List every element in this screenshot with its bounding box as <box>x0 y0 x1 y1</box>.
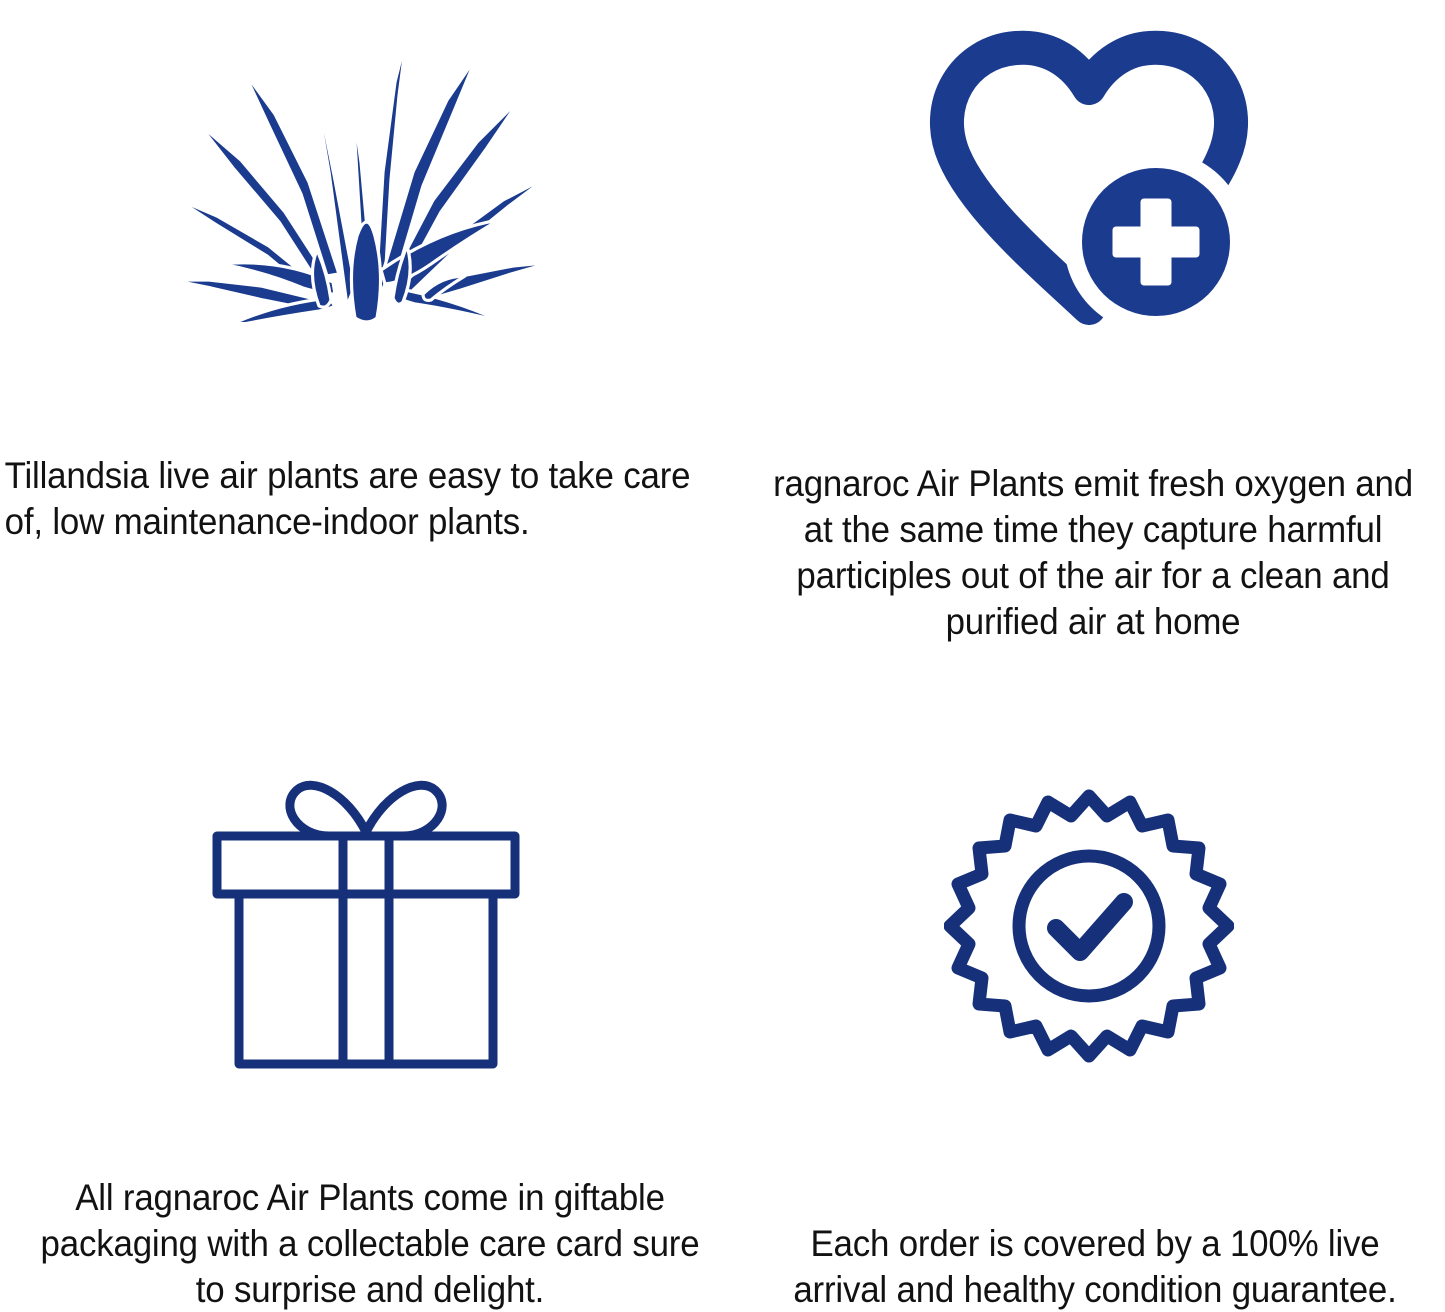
gift-box-icon-container <box>0 656 740 1174</box>
bow-loop-right <box>366 785 442 836</box>
guarantee-badge-icon-container <box>740 656 1445 1220</box>
guarantee-badge-icon <box>944 784 1234 1074</box>
feature-card-air-plant: Tillandsia live air plants are easy to t… <box>0 0 740 656</box>
check-icon <box>1056 902 1124 952</box>
feature-caption-giftable-packaging: All ragnaroc Air Plants come in giftable… <box>26 1174 714 1312</box>
gift-box-icon <box>201 760 531 1080</box>
feature-caption-air-plant: Tillandsia live air plants are easy to t… <box>0 452 711 544</box>
feature-card-giftable-packaging: All ragnaroc Air Plants come in giftable… <box>0 656 740 1312</box>
feature-card-guarantee: Each order is covered by a 100% live arr… <box>740 656 1445 1312</box>
gift-body <box>239 894 493 1064</box>
gift-lid <box>217 836 515 894</box>
badge-inner-circle <box>1019 856 1159 996</box>
feature-caption-guarantee: Each order is covered by a 100% live arr… <box>770 1220 1421 1312</box>
bow-loop-left <box>290 785 366 836</box>
air-plant-icon <box>169 22 559 322</box>
air-plant-icon-container <box>0 0 740 452</box>
heart-plus-icon-container <box>740 0 1445 460</box>
heart-plus-icon <box>924 30 1254 325</box>
feature-card-fresh-air: ragnaroc Air Plants emit fresh oxygen an… <box>740 0 1445 656</box>
feature-caption-fresh-air: ragnaroc Air Plants emit fresh oxygen an… <box>768 460 1419 644</box>
feature-grid: Tillandsia live air plants are easy to t… <box>0 0 1445 1312</box>
badge-starburst <box>950 796 1228 1056</box>
